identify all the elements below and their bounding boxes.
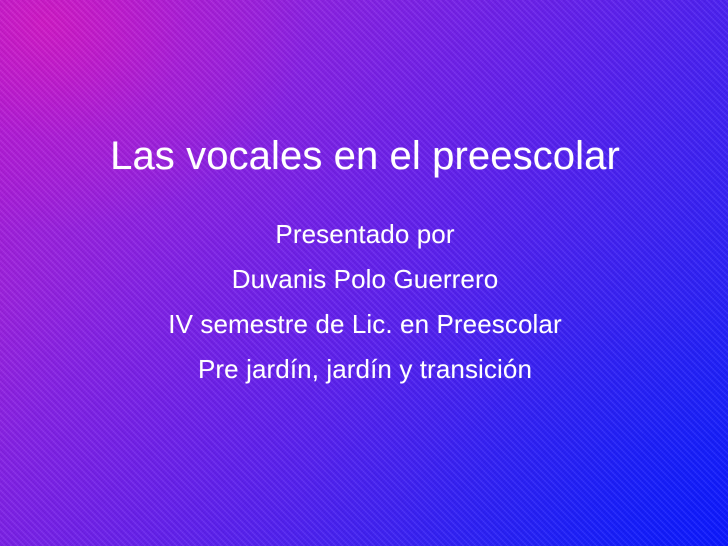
subtitle-line-grade-levels: Pre jardín, jardín y transición <box>2 347 728 392</box>
slide-content: Las vocales en el preescolar Presentado … <box>0 0 728 546</box>
subtitle-line-presented-by: Presentado por <box>2 212 728 257</box>
subtitle-line-program: IV semestre de Lic. en Preescolar <box>2 302 728 347</box>
slide-title: Las vocales en el preescolar <box>0 133 728 179</box>
subtitle-line-author-name: Duvanis Polo Guerrero <box>2 257 728 302</box>
slide-subtitle-block: Presentado por Duvanis Polo Guerrero IV … <box>0 212 728 392</box>
presentation-slide: Las vocales en el preescolar Presentado … <box>0 0 728 546</box>
